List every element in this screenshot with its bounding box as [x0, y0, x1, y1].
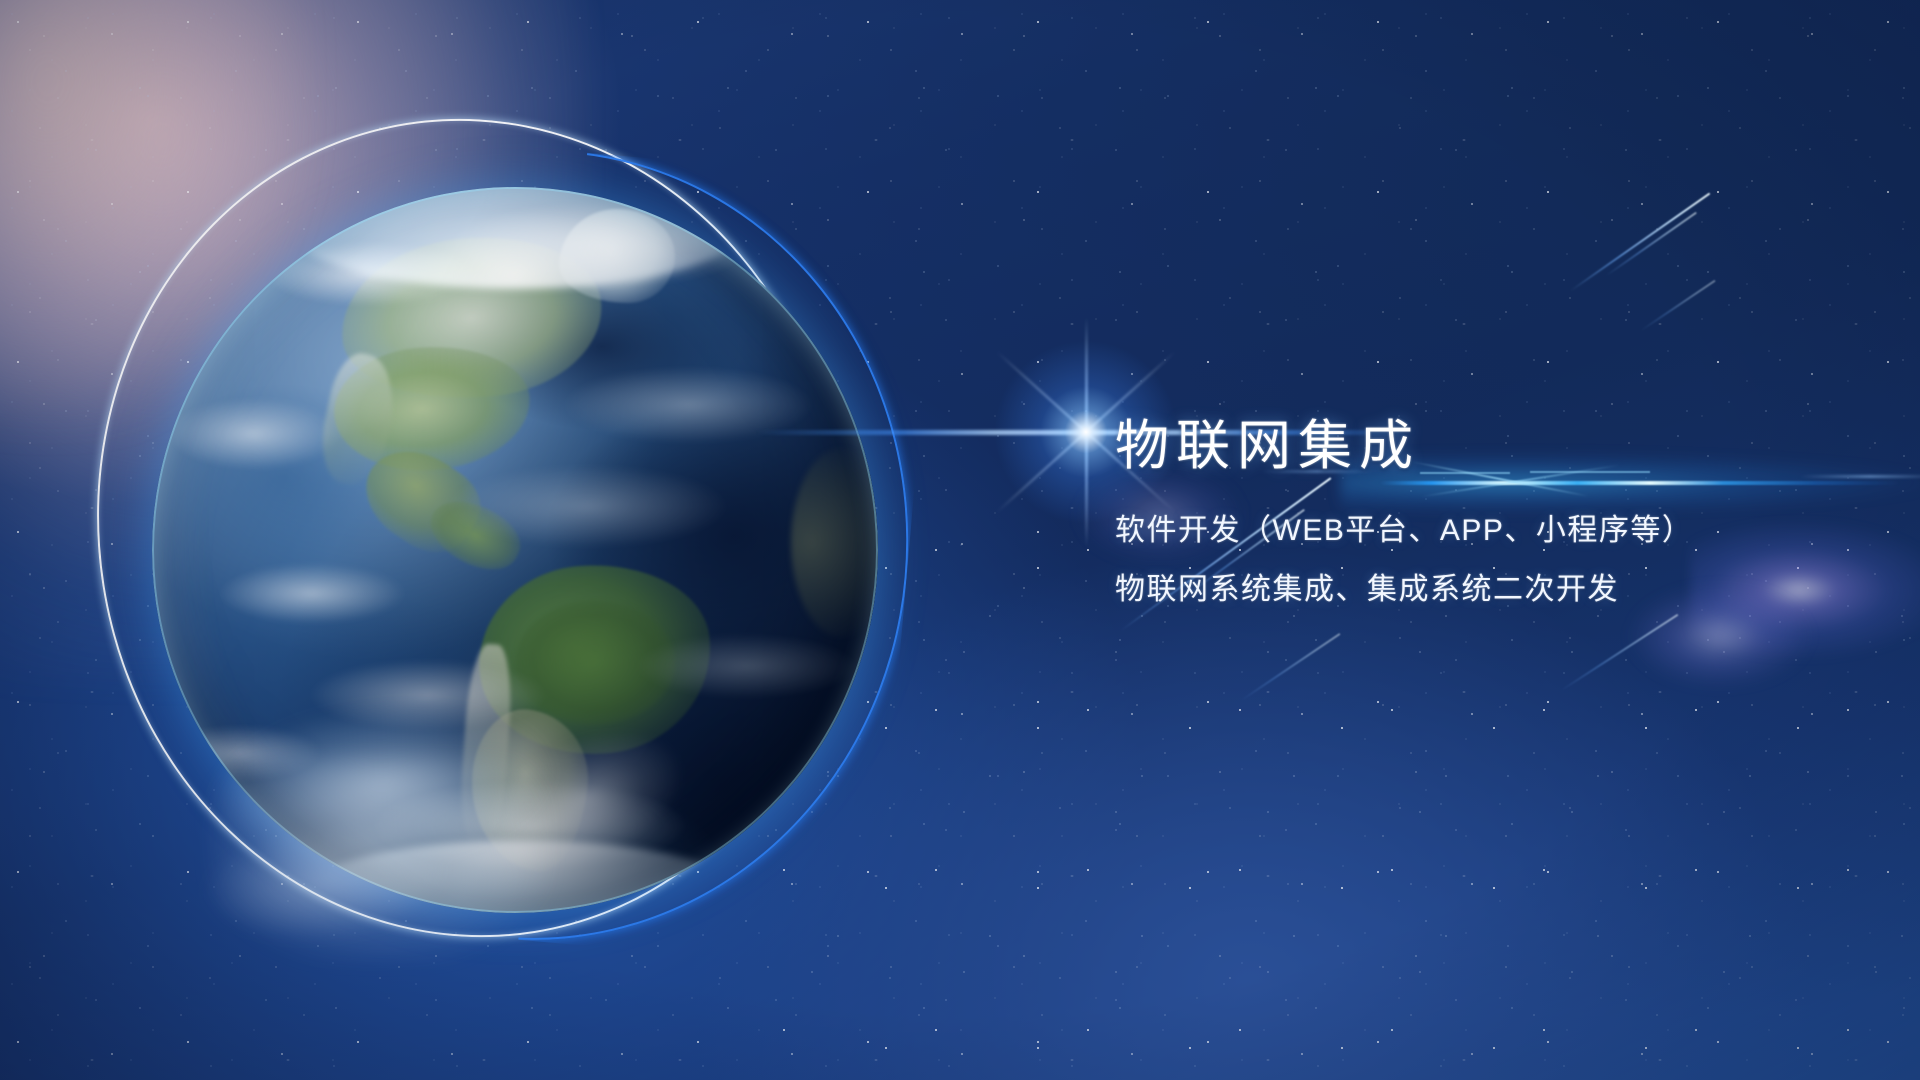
earth-sphere-icon	[152, 187, 878, 913]
banner-subtitle-line-1: 软件开发（WEB平台、APP、小程序等）	[1115, 507, 1875, 554]
hero-banner: 物联网集成 软件开发（WEB平台、APP、小程序等） 物联网系统集成、集成系统二…	[0, 0, 1920, 1080]
banner-subtitle: 软件开发（WEB平台、APP、小程序等） 物联网系统集成、集成系统二次开发	[1115, 507, 1875, 614]
banner-subtitle-line-2: 物联网系统集成、集成系统二次开发	[1115, 566, 1875, 613]
earth-globe-graphic	[0, 0, 1100, 1080]
banner-headline: 物联网集成	[1115, 415, 1875, 479]
globe-rim-light	[152, 187, 878, 913]
banner-copy: 物联网集成 软件开发（WEB平台、APP、小程序等） 物联网系统集成、集成系统二…	[1115, 415, 1875, 614]
